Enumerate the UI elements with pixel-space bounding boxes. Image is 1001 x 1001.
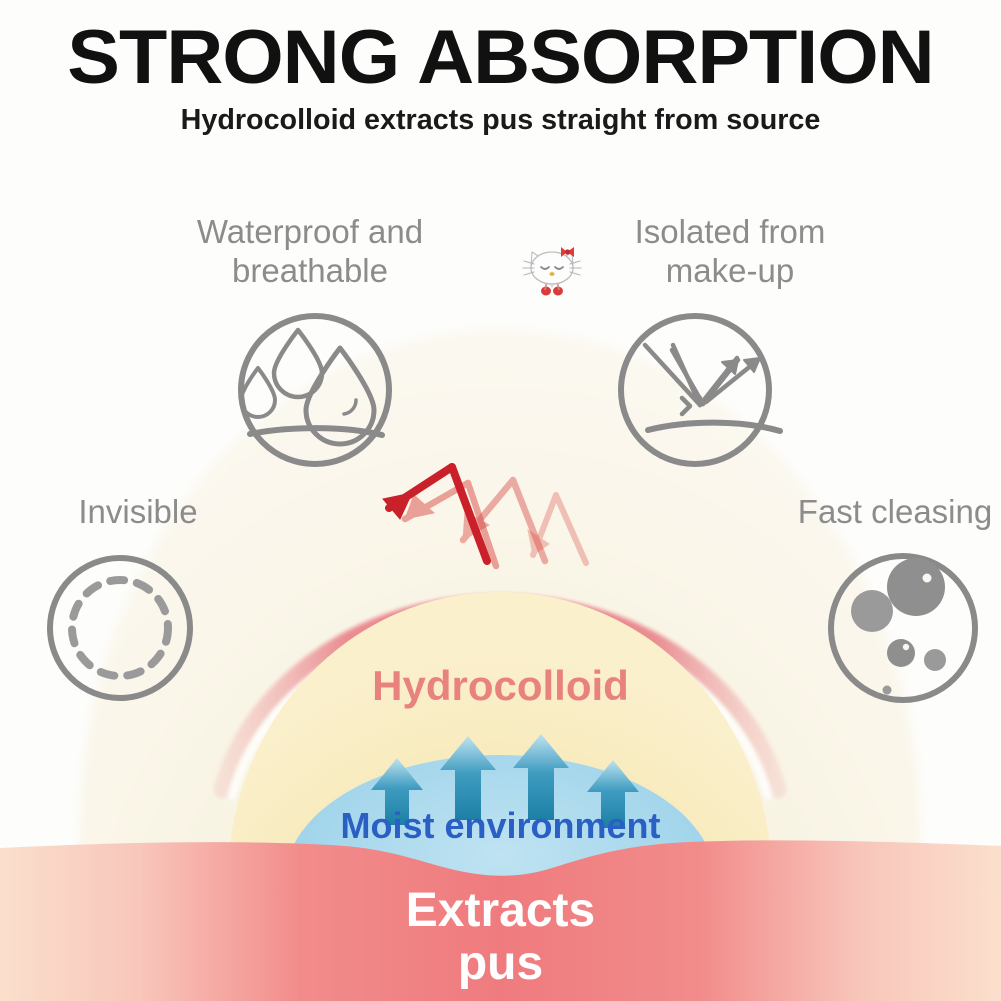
extracts-pus-label: Extracts pus: [0, 884, 1001, 990]
infographic-poster: STRONG ABSORPTION Hydrocolloid extracts …: [0, 0, 1001, 1001]
feature-label-waterproof: Waterproof and breathable: [150, 212, 470, 290]
hydrocolloid-label: Hydrocolloid: [0, 662, 1001, 710]
feature-label-isolated: Isolated from make-up: [580, 212, 880, 290]
moist-environment-label: Moist environment: [0, 805, 1001, 847]
feature-label-fast-cleasing: Fast cleasing: [775, 492, 1001, 531]
poster-header: STRONG ABSORPTION Hydrocolloid extracts …: [0, 18, 1001, 138]
feature-label-invisible: Invisible: [28, 492, 248, 531]
hello-kitty-icon: [521, 238, 583, 300]
page-title: STRONG ABSORPTION: [0, 18, 1001, 98]
page-subtitle: Hydrocolloid extracts pus straight from …: [5, 102, 996, 138]
